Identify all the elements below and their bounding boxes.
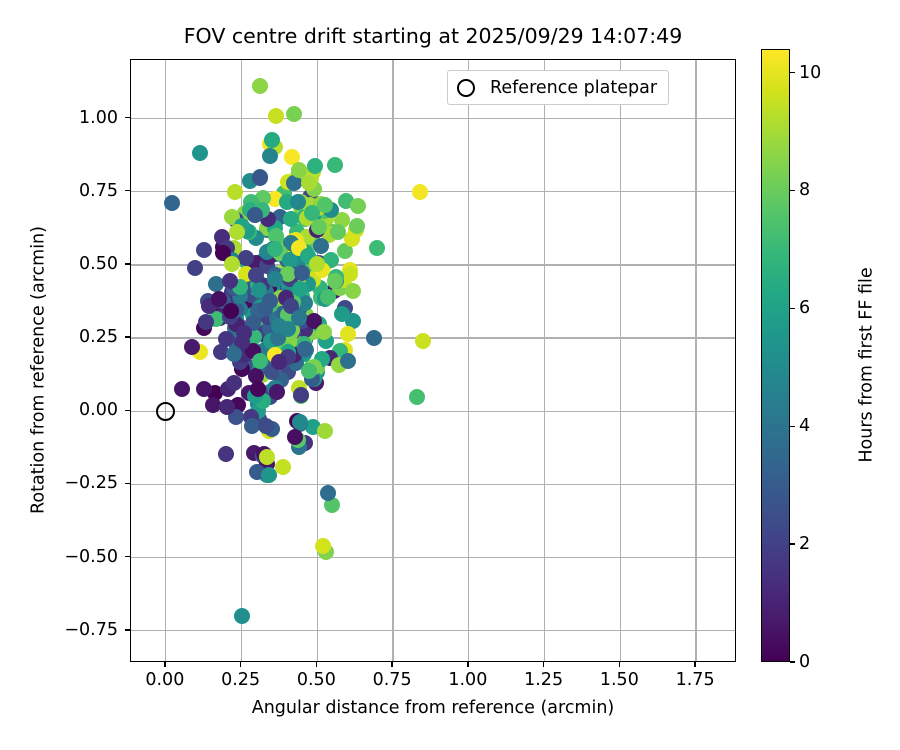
scatter-point (345, 283, 361, 299)
gridline-horizontal (131, 484, 735, 485)
colorbar-tick-mark (790, 190, 795, 191)
scatter-point (222, 273, 238, 289)
scatter-point (294, 265, 310, 281)
scatter-point (280, 321, 296, 337)
scatter-point (415, 333, 431, 349)
y-tick-label: −0.75 (64, 620, 118, 640)
colorbar-tick-mark (790, 72, 795, 73)
y-tick-mark (125, 483, 130, 484)
colorbar-tick-label: 0 (799, 652, 810, 672)
x-tick-label: 1.25 (524, 670, 563, 690)
x-tick-label: 1.75 (676, 670, 715, 690)
scatter-point (369, 240, 385, 256)
legend-circle-open-icon (457, 79, 475, 97)
scatter-point (269, 384, 285, 400)
x-tick-mark (391, 662, 392, 667)
x-tick-mark (240, 662, 241, 667)
scatter-point (196, 381, 212, 397)
scatter-point (223, 303, 239, 319)
scatter-point (275, 459, 291, 475)
scatter-point (342, 266, 358, 282)
y-tick-mark (125, 117, 130, 118)
colorbar (761, 49, 790, 662)
scatter-point (211, 291, 227, 307)
y-tick-label: −0.50 (64, 547, 118, 567)
scatter-point (327, 157, 343, 173)
scatter-point (283, 211, 299, 227)
scatter-point (267, 241, 283, 257)
scatter-point (267, 271, 283, 287)
scatter-point (196, 242, 212, 258)
x-axis-label: Angular distance from reference (arcmin) (130, 698, 736, 718)
y-tick-label: 0.50 (79, 254, 118, 274)
scatter-point (330, 224, 346, 240)
gridline-vertical (165, 60, 166, 661)
x-tick-label: 0.00 (145, 670, 184, 690)
scatter-point (317, 197, 333, 213)
x-tick-label: 0.50 (297, 670, 336, 690)
colorbar-tick-label: 6 (799, 298, 810, 318)
gridline-horizontal (131, 557, 735, 558)
gridline-horizontal (131, 264, 735, 265)
scatter-point (309, 256, 325, 272)
scatter-point (248, 267, 264, 283)
scatter-point (218, 446, 234, 462)
y-tick-label: −0.25 (64, 473, 118, 493)
gridline-vertical (544, 60, 545, 661)
scatter-point (297, 341, 313, 357)
gridline-horizontal (131, 630, 735, 631)
scatter-point (287, 429, 303, 445)
y-tick-mark (125, 556, 130, 557)
colorbar-tick-label: 10 (799, 63, 821, 83)
y-tick-label: 0.00 (79, 400, 118, 420)
scatter-point (366, 330, 382, 346)
scatter-point (252, 78, 268, 94)
gridline-horizontal (131, 191, 735, 192)
scatter-point (258, 418, 274, 434)
colorbar-tick-label: 4 (799, 416, 810, 436)
gridline-vertical (392, 60, 393, 661)
x-tick-mark (316, 662, 317, 667)
scatter-point (236, 325, 252, 341)
x-tick-mark (543, 662, 544, 667)
scatter-point (320, 289, 336, 305)
legend-item-label: Reference platepar (490, 78, 657, 98)
scatter-point (271, 354, 287, 370)
y-tick-mark (125, 263, 130, 264)
scatter-point (409, 389, 425, 405)
scatter-point (219, 399, 235, 415)
scatter-point (252, 353, 268, 369)
gridline-vertical (620, 60, 621, 661)
gridline-vertical (695, 60, 696, 661)
scatter-point (350, 198, 366, 214)
scatter-point (234, 608, 250, 624)
x-tick-label: 1.50 (600, 670, 639, 690)
y-tick-mark (125, 336, 130, 337)
scatter-plot-axes (130, 59, 736, 662)
scatter-point (301, 363, 317, 379)
scatter-point (412, 184, 428, 200)
scatter-point (292, 281, 308, 297)
y-axis-label: Rotation from reference (arcmin) (29, 69, 49, 672)
x-tick-mark (694, 662, 695, 667)
scatter-point (187, 260, 203, 276)
y-tick-mark (125, 190, 130, 191)
scatter-point (174, 381, 190, 397)
x-tick-mark (467, 662, 468, 667)
y-tick-label: 1.00 (79, 108, 118, 128)
scatter-point (317, 423, 333, 439)
scatter-point (184, 339, 200, 355)
y-tick-mark (125, 410, 130, 411)
colorbar-tick-mark (790, 661, 795, 662)
x-tick-label: 0.75 (373, 670, 412, 690)
colorbar-tick-label: 2 (799, 534, 810, 554)
scatter-point (349, 218, 365, 234)
scatter-point (192, 145, 208, 161)
scatter-point (247, 207, 263, 223)
colorbar-tick-mark (790, 308, 795, 309)
x-tick-mark (619, 662, 620, 667)
scatter-point (340, 353, 356, 369)
scatter-point (268, 108, 284, 124)
scatter-point (307, 158, 323, 174)
x-tick-label: 1.00 (448, 670, 487, 690)
scatter-point (224, 256, 240, 272)
scatter-point (164, 195, 180, 211)
gridline-vertical (468, 60, 469, 661)
scatter-point (226, 375, 242, 391)
scatter-point (226, 346, 242, 362)
scatter-point (286, 106, 302, 122)
y-tick-label: 0.75 (79, 181, 118, 201)
scatter-point (340, 326, 356, 342)
colorbar-tick-label: 8 (799, 180, 810, 200)
scatter-point (320, 485, 336, 501)
matplotlib-figure: FOV centre drift starting at 2025/09/29 … (0, 0, 900, 750)
x-tick-label: 0.25 (221, 670, 260, 690)
colorbar-tick-mark (790, 543, 795, 544)
legend: Reference platepar (447, 70, 669, 105)
scatter-point (252, 170, 268, 186)
page-title: FOV centre drift starting at 2025/09/29 … (130, 26, 736, 47)
reference-platepar-marker (156, 402, 175, 421)
scatter-point (262, 148, 278, 164)
y-tick-label: 0.25 (79, 327, 118, 347)
colorbar-label: Hours from first FF file (857, 59, 877, 672)
y-tick-mark (125, 629, 130, 630)
x-tick-mark (164, 662, 165, 667)
scatter-point (290, 194, 306, 210)
gridline-horizontal (131, 118, 735, 119)
colorbar-tick-mark (790, 426, 795, 427)
